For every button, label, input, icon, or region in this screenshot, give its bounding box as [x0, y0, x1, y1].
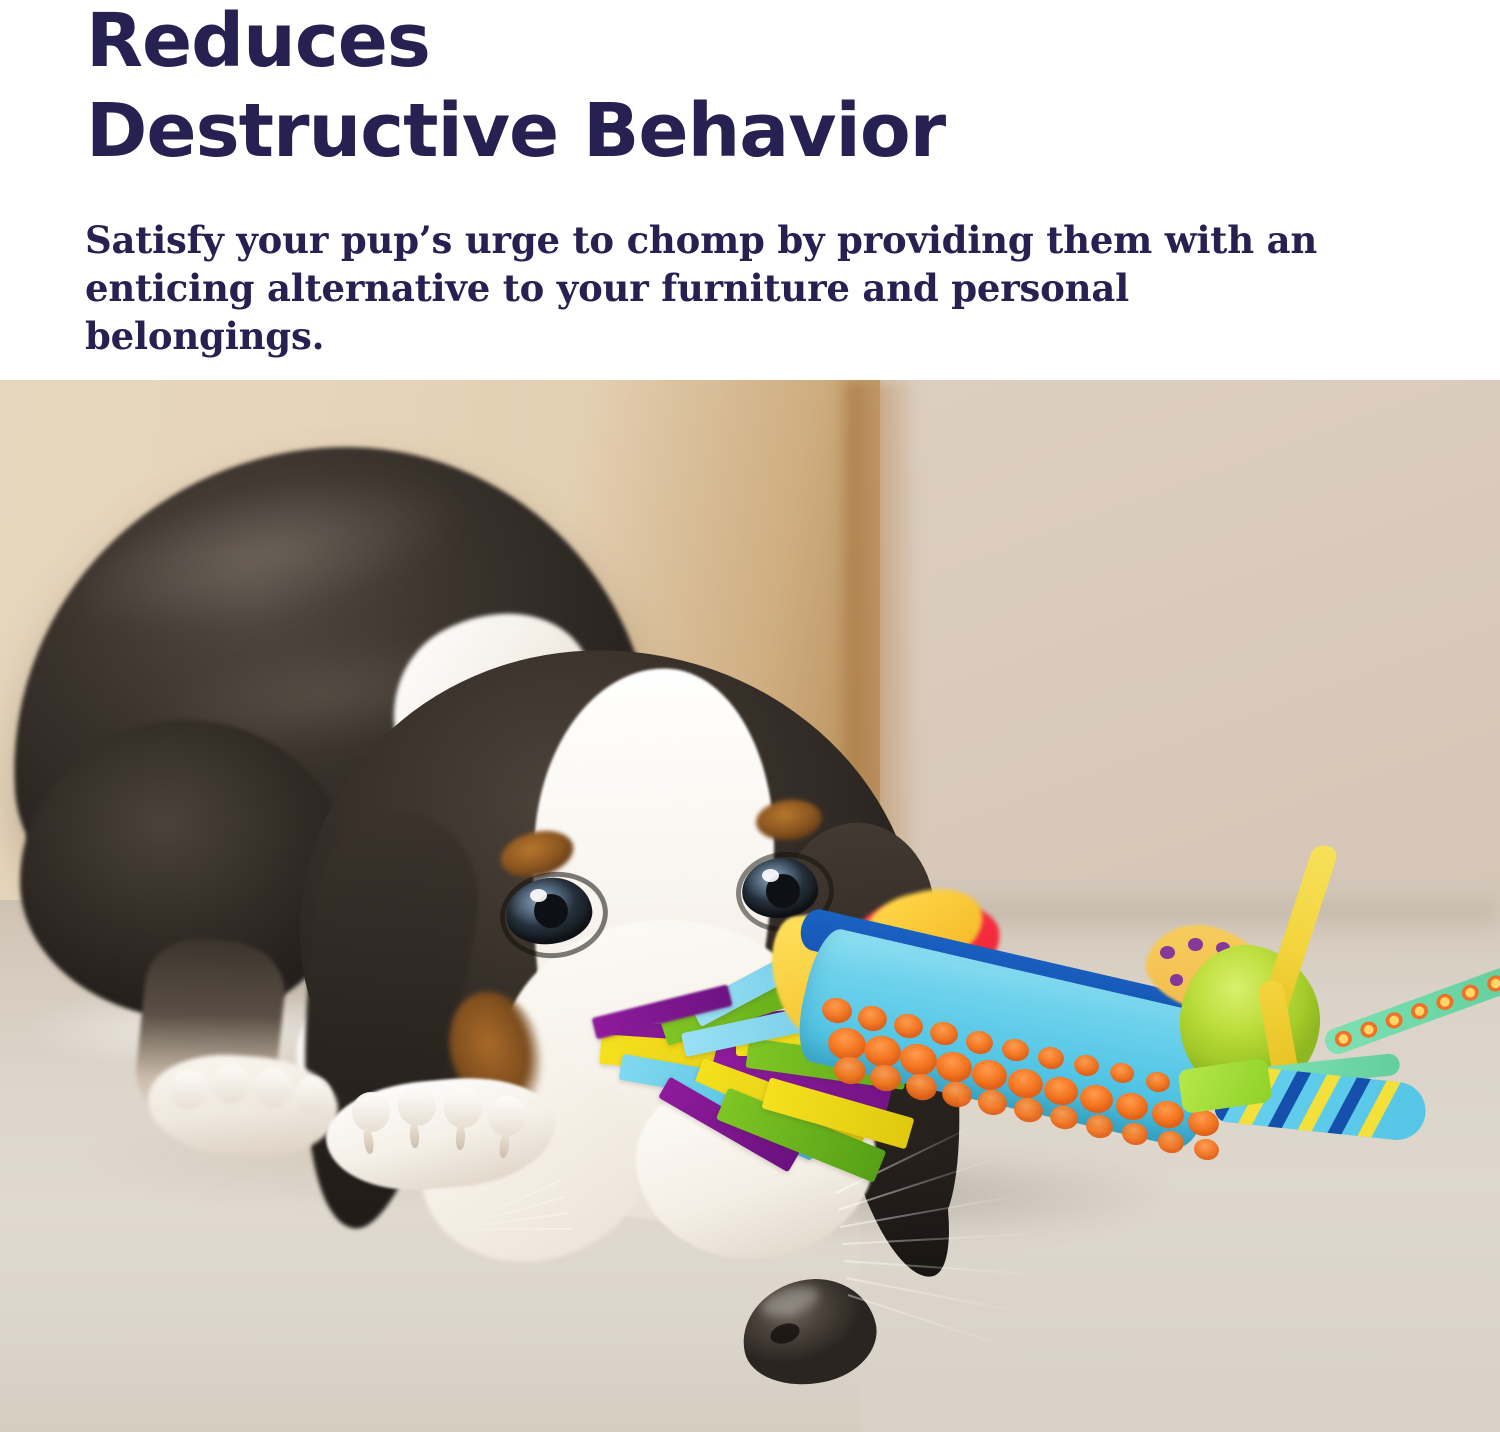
toy-dot-purple [1188, 938, 1203, 951]
paw-toe [352, 1092, 390, 1132]
paw-toe [254, 1068, 292, 1108]
toy-ribbon-mint [1322, 965, 1500, 1058]
paw-toe [444, 1088, 482, 1128]
whisker [462, 1228, 572, 1230]
toy-ribbon-dot [1409, 1001, 1430, 1022]
paw-toe [170, 1070, 208, 1110]
toy-ribbon-dot [1434, 992, 1455, 1013]
toy-dot-purple [1170, 974, 1183, 986]
toy-ribbon-dot [1383, 1010, 1404, 1031]
product-feature-card: Reduces Destructive Behavior Satisfy you… [0, 0, 1500, 1432]
paw-toe [488, 1096, 526, 1136]
paw-toe [398, 1086, 436, 1126]
toy-ribbon-dot [1460, 982, 1481, 1003]
dog-chew-toy [560, 850, 1500, 1270]
toy-ribbon-dot [1485, 973, 1500, 994]
page-title: Reduces Destructive Behavior [86, 0, 1406, 176]
paw-toe [212, 1064, 250, 1104]
puppy-eye-glint-left [530, 889, 547, 902]
subtitle-description: Satisfy your pup’s urge to chomp by prov… [85, 216, 1375, 360]
toy-ribbon-dot [1358, 1019, 1379, 1040]
text-band: Reduces Destructive Behavior Satisfy you… [0, 0, 1500, 380]
product-lifestyle-photo [0, 380, 1500, 1432]
toy-dot-orange [1192, 1137, 1221, 1163]
toy-dot-purple [1160, 946, 1175, 959]
paw-toe [294, 1076, 332, 1116]
toy-ribbon-dot [1333, 1028, 1354, 1049]
